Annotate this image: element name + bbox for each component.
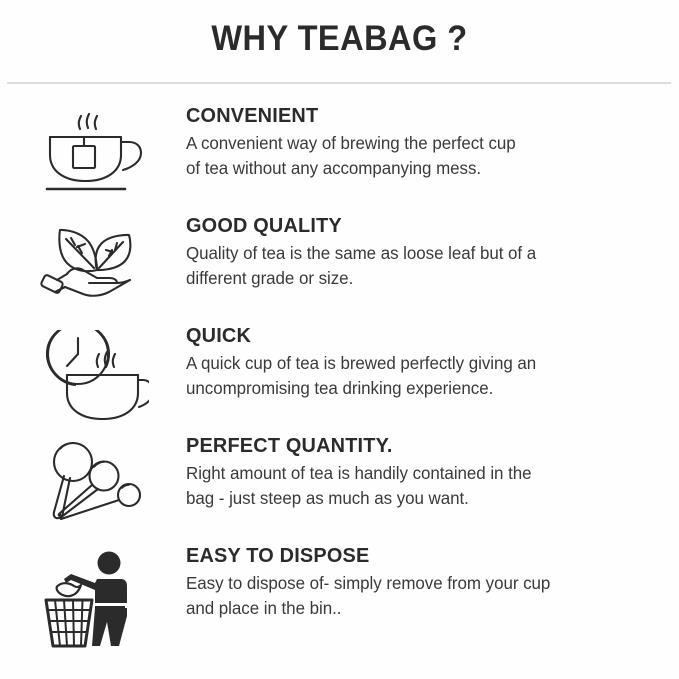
list-item: PERFECT QUANTITY. Right amount of tea is… bbox=[0, 434, 679, 544]
list-item-heading: QUICK bbox=[186, 324, 653, 348]
body-line: and place in the bin.. bbox=[186, 596, 655, 622]
body-line: Quality of tea is the same as loose leaf… bbox=[186, 241, 655, 267]
title-area: WHY TEABAG ? bbox=[0, 0, 679, 59]
list-item-text: QUICK A quick cup of tea is brewed perfe… bbox=[186, 324, 679, 402]
benefit-list: CONVENIENT A convenient way of brewing t… bbox=[0, 104, 679, 654]
list-item-text: CONVENIENT A convenient way of brewing t… bbox=[186, 104, 679, 182]
list-item: GOOD QUALITY Quality of tea is the same … bbox=[0, 214, 679, 324]
hand-holding-tea-leaves-icon bbox=[0, 214, 186, 306]
list-item: EASY TO DISPOSE Easy to dispose of- simp… bbox=[0, 544, 679, 654]
header-divider bbox=[7, 82, 671, 84]
dispose-in-bin-icon bbox=[0, 544, 186, 648]
list-item: CONVENIENT A convenient way of brewing t… bbox=[0, 104, 679, 214]
list-item-body: A convenient way of brewing the perfect … bbox=[186, 131, 655, 182]
list-item-heading: PERFECT QUANTITY. bbox=[186, 434, 653, 458]
list-item-heading: EASY TO DISPOSE bbox=[186, 544, 653, 568]
body-line: Right amount of tea is handily contained… bbox=[186, 461, 655, 487]
body-line: A quick cup of tea is brewed perfectly g… bbox=[186, 351, 655, 377]
list-item-body: Quality of tea is the same as loose leaf… bbox=[186, 241, 655, 292]
body-line: uncompromising tea drinking experience. bbox=[186, 376, 655, 402]
body-line: different grade or size. bbox=[186, 266, 655, 292]
body-line: Easy to dispose of- simply remove from y… bbox=[186, 571, 655, 597]
list-item-heading: CONVENIENT bbox=[186, 104, 653, 128]
teacup-with-teabag-icon bbox=[0, 104, 186, 196]
list-item-text: GOOD QUALITY Quality of tea is the same … bbox=[186, 214, 679, 292]
list-item-body: Right amount of tea is handily contained… bbox=[186, 461, 655, 512]
list-item-body: A quick cup of tea is brewed perfectly g… bbox=[186, 351, 655, 402]
list-item: QUICK A quick cup of tea is brewed perfe… bbox=[0, 324, 679, 434]
list-item-text: EASY TO DISPOSE Easy to dispose of- simp… bbox=[186, 544, 679, 622]
body-line: bag - just steep as much as you want. bbox=[186, 486, 655, 512]
body-line: of tea without any accompanying mess. bbox=[186, 156, 655, 182]
body-line: A convenient way of brewing the perfect … bbox=[186, 131, 655, 157]
page-title: WHY TEABAG ? bbox=[24, 20, 655, 59]
measuring-spoons-icon bbox=[0, 434, 186, 530]
list-item-text: PERFECT QUANTITY. Right amount of tea is… bbox=[186, 434, 679, 512]
list-item-body: Easy to dispose of- simply remove from y… bbox=[186, 571, 655, 622]
clock-with-teacup-icon bbox=[0, 324, 186, 420]
infographic-poster: WHY TEABAG ? bbox=[0, 0, 679, 679]
list-item-heading: GOOD QUALITY bbox=[186, 214, 653, 238]
